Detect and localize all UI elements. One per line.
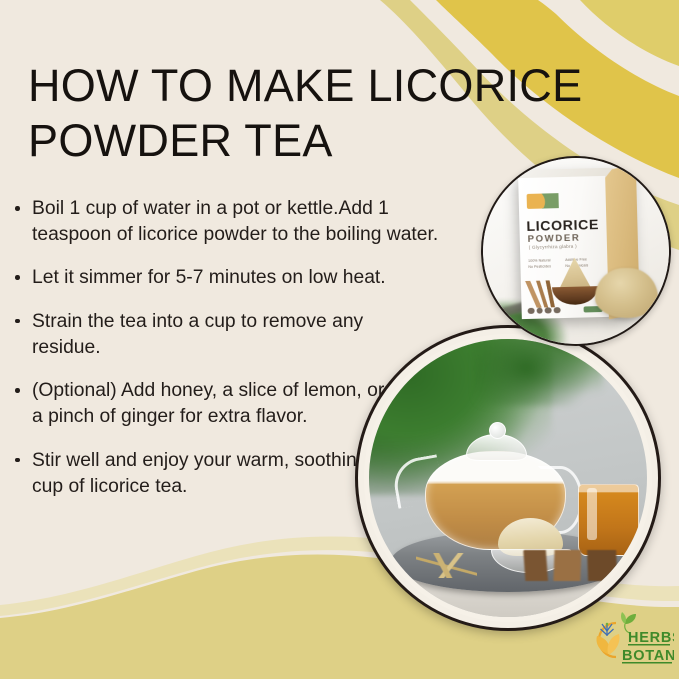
package-title: LICORICE (526, 218, 602, 234)
step-text: Let it simmer for 5-7 minutes on low hea… (32, 267, 386, 288)
sprig-tip-icon (606, 623, 609, 626)
brand-underline-1 (628, 644, 670, 646)
licorice-root-sticks (522, 550, 633, 581)
foliage-backdrop-secondary (475, 339, 603, 406)
step-text: Stir well and enjoy your warm, soothing … (32, 450, 367, 497)
brand-logo: HERBS BOTANICA (582, 611, 674, 669)
list-item: Boil 1 cup of water in a pot or kettle.A… (10, 196, 465, 248)
package-brand-logo (527, 192, 578, 209)
step-text: (Optional) Add honey, a slice of lemon, … (32, 380, 384, 427)
lifestyle-photo-circle (355, 325, 661, 631)
step-text: Strain the tea into a cup to remove any … (32, 311, 363, 358)
badge-icon (528, 307, 535, 314)
package-certification-badges (528, 303, 603, 316)
list-item: Stir well and enjoy your warm, soothing … (10, 448, 402, 500)
package-bowl-art (552, 268, 598, 306)
product-photo: LICORICE POWDER ( Glycyrrhiza glabra ) 1… (483, 158, 669, 344)
teapot-photo (369, 339, 647, 617)
package-wooden-bowl (553, 286, 599, 305)
bullet-dot (15, 206, 20, 211)
loose-powder-heap (595, 268, 658, 318)
bullet-dot (15, 458, 20, 463)
brand-name-line2: BOTANICA (622, 648, 674, 664)
list-item: Let it simmer for 5-7 minutes on low hea… (10, 265, 465, 291)
package-botanical-name: ( Glycyrrhiza glabra ) (529, 243, 577, 249)
licorice-tea-infographic: HOW TO MAKE LICORICE POWDER TEA Boil 1 c… (0, 0, 679, 679)
package-subtitle: POWDER (528, 233, 603, 245)
brand-underline-2 (622, 662, 672, 664)
package-feature: 100% Natural (528, 257, 561, 262)
list-item: (Optional) Add honey, a slice of lemon, … (10, 378, 397, 430)
teapot-knob (489, 422, 506, 439)
package-feature-list: 100% Natural Additive Free No Pesticides… (528, 256, 598, 268)
sprig-icon (601, 624, 614, 636)
bullet-dot (15, 319, 20, 324)
package-feature: Additive Free (565, 256, 598, 261)
bullet-dot (15, 275, 20, 280)
step-text: Boil 1 cup of water in a pot or kettle.A… (32, 198, 438, 245)
bullet-dot (15, 388, 20, 393)
brand-name-line1: HERBS (628, 630, 674, 646)
badge-icon (545, 306, 552, 313)
badge-icon (536, 307, 543, 314)
ribbon-muted-lower (580, 0, 679, 66)
product-photo-circle: LICORICE POWDER ( Glycyrrhiza glabra ) 1… (481, 156, 671, 346)
badge-icon (554, 306, 561, 313)
list-item: Strain the tea into a cup to remove any … (10, 309, 402, 361)
leaf-right-icon (608, 634, 620, 654)
tea-glass (578, 484, 638, 556)
dried-herb-strands (416, 553, 477, 578)
page-title: HOW TO MAKE LICORICE POWDER TEA (28, 58, 628, 169)
package-feature: No Pesticides (528, 264, 561, 269)
